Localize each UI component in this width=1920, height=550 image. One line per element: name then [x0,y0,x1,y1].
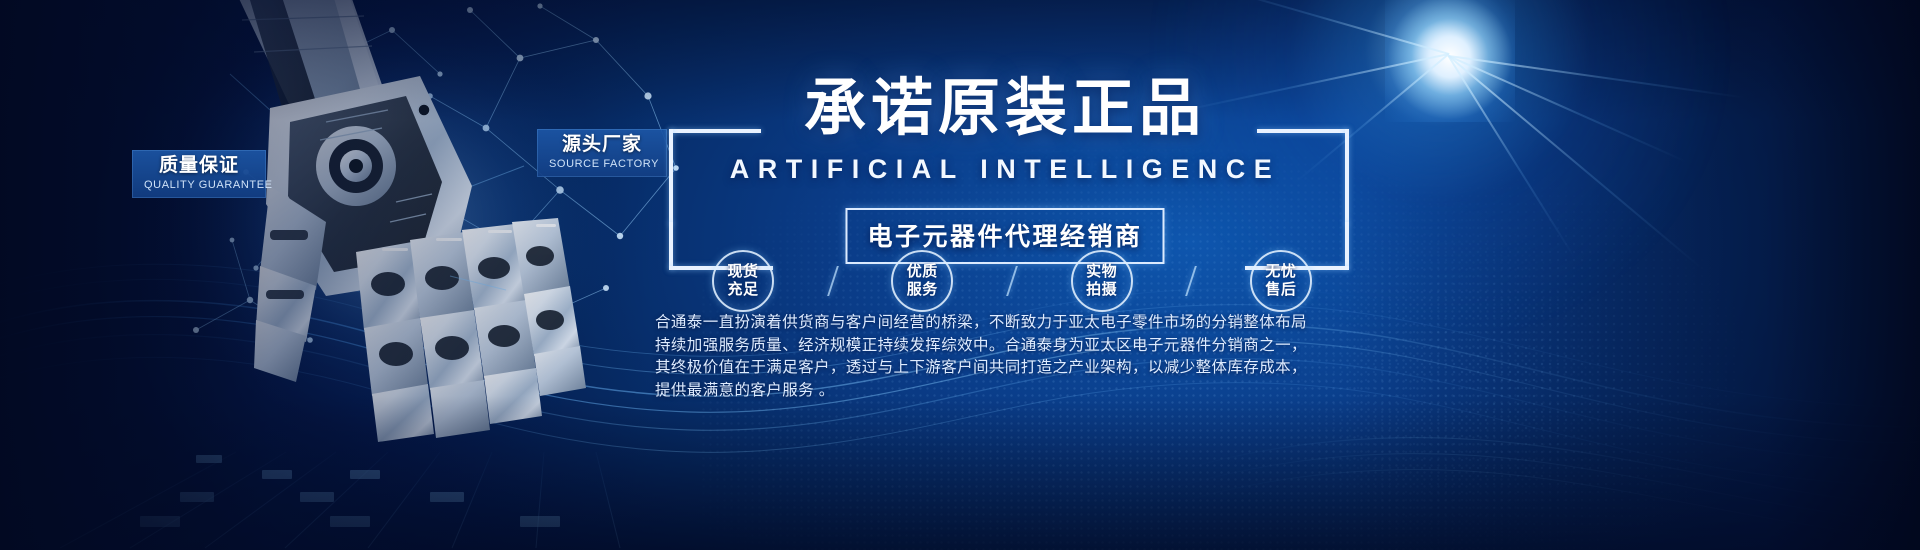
feature-badge-row: 现货 充足 优质 服务 实物 拍摄 无忧 售后 [712,248,1312,314]
feature-service-line1: 优质 [907,263,938,281]
paragraph-line-1: 合通泰一直扮演着供货商与客户间经营的桥梁，不断致力于亚太电子零件市场的分销整体布… [655,312,1315,335]
description-paragraph: 合通泰一直扮演着供货商与客户间经营的桥梁，不断致力于亚太电子零件市场的分销整体布… [655,312,1315,402]
feature-badge-stock: 现货 充足 [712,250,774,312]
feature-badge-service: 优质 服务 [891,250,953,312]
feature-stock-line2: 充足 [727,281,758,299]
feature-stock-line1: 现货 [727,263,758,281]
feature-photo-line2: 拍摄 [1086,281,1117,299]
boxed-tagline-text: 电子元器件代理经销商 [867,223,1142,251]
badge-source-cn: 源头厂家 [549,135,655,154]
feature-separator [827,266,839,296]
badge-quality-guarantee: 质量保证 QUALITY GUARANTEE [132,150,266,198]
feature-badge-photo: 实物 拍摄 [1071,250,1133,312]
subtitle-english: ARTIFICIAL INTELLIGENCE [655,154,1355,185]
page-title: 承诺原装正品 [655,78,1355,140]
badge-quality-en: QUALITY GUARANTEE [144,180,254,191]
feature-separator [1185,266,1197,296]
badge-source-en: SOURCE FACTORY [549,159,655,170]
paragraph-line-4: 提供最满意的客户服务 。 [655,380,1315,403]
feature-aftersales-line2: 售后 [1265,281,1296,299]
promo-banner: 质量保证 QUALITY GUARANTEE 源头厂家 SOURCE FACTO… [0,0,1920,550]
feature-separator [1006,266,1018,296]
feature-aftersales-line1: 无忧 [1265,263,1296,281]
feature-badge-aftersales: 无忧 售后 [1250,250,1312,312]
badge-source-factory: 源头厂家 SOURCE FACTORY [537,129,667,177]
feature-service-line2: 服务 [907,281,938,299]
feature-photo-line1: 实物 [1086,263,1117,281]
paragraph-line-3: 其终极价值在于满足客户，透过与上下游客户间共同打造之产业架构，以减少整体库存成本… [655,357,1315,380]
paragraph-line-2: 持续加强服务质量、经济规模正持续发挥综效中。合通泰身为亚太区电子元器件分销商之一… [655,335,1315,358]
badge-quality-cn: 质量保证 [144,156,254,175]
